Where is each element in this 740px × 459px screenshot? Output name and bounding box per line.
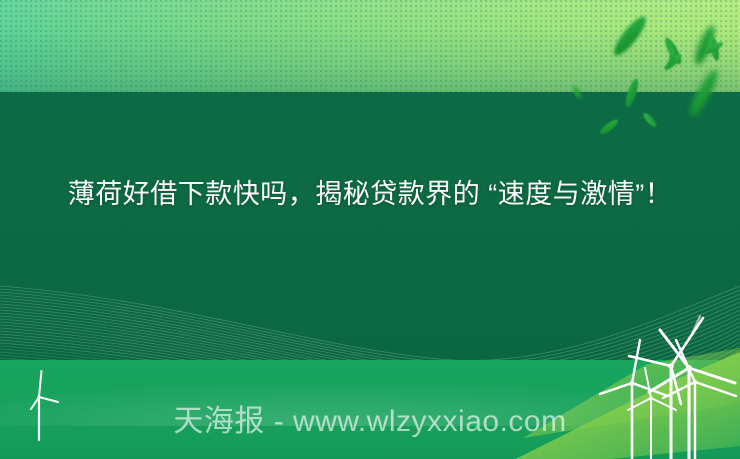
poster-canvas: 薄荷好借下款快吗，揭秘贷款界的 “速度与激情”！ 天海报 - www.wlzyx… <box>0 0 740 459</box>
page-title: 薄荷好借下款快吗，揭秘贷款界的 “速度与激情”！ <box>0 172 740 217</box>
watermark: 天海报 - www.wlzyxxiao.com <box>0 404 740 440</box>
wind-turbine-icon <box>663 340 736 459</box>
wind-turbines-layer <box>0 0 740 459</box>
